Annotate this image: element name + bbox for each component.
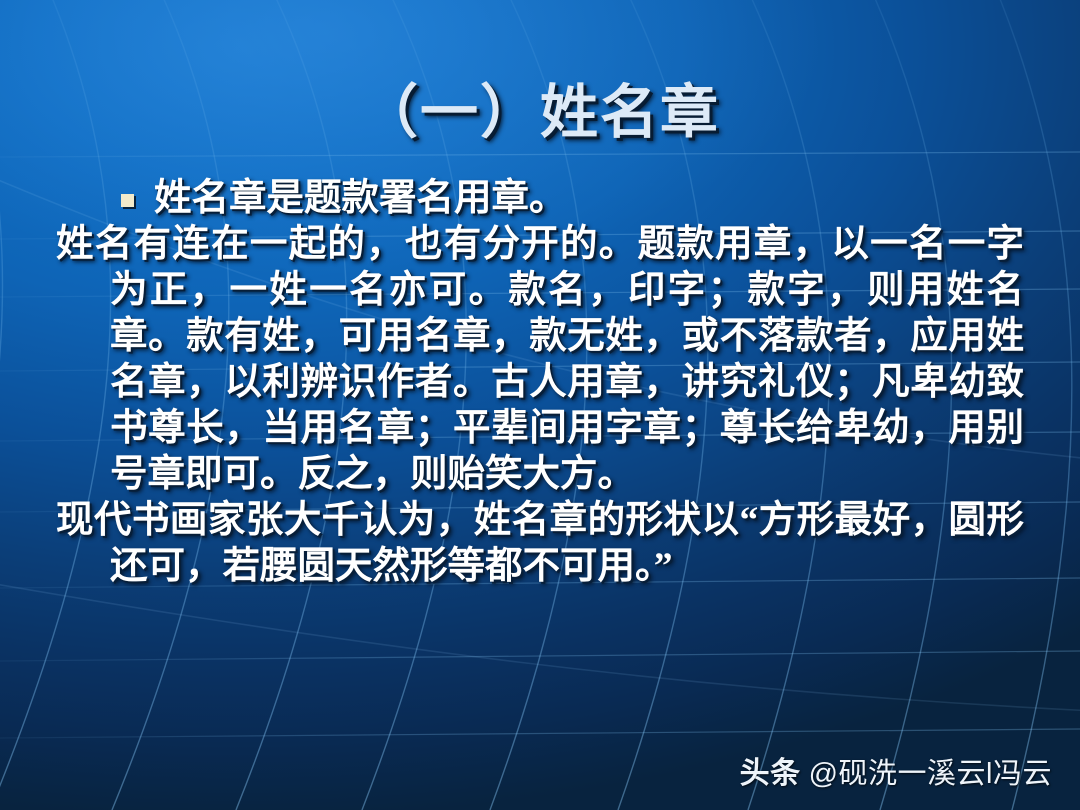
- square-bullet-icon: [121, 194, 134, 207]
- presentation-slide: （一）姓名章 姓名章是题款署名用章。 姓名有连在一起的，也有分开的。题款用章，以…: [0, 0, 1080, 810]
- slide-body: 姓名章是题款署名用章。 姓名有连在一起的，也有分开的。题款用章，以一名一字为正，…: [56, 176, 1024, 590]
- bulleted-paragraph: 姓名章是题款署名用章。: [56, 176, 1024, 222]
- paragraph-body-2: 现代书画家张大千认为，姓名章的形状以“方形最好，圆形还可，若腰圆天然形等都不可用…: [56, 498, 1024, 590]
- slide-title: （一）姓名章: [0, 83, 1080, 144]
- watermark-handle: @砚洗一溪云l冯云: [809, 750, 1052, 792]
- watermark: 头条 @砚洗一溪云l冯云: [740, 748, 1052, 792]
- watermark-brand: 头条: [740, 748, 801, 792]
- paragraph-text: 姓名章是题款署名用章。: [154, 176, 1024, 222]
- paragraph-body-1: 姓名有连在一起的，也有分开的。题款用章，以一名一字为正，一姓一名亦可。款名，印字…: [56, 222, 1024, 498]
